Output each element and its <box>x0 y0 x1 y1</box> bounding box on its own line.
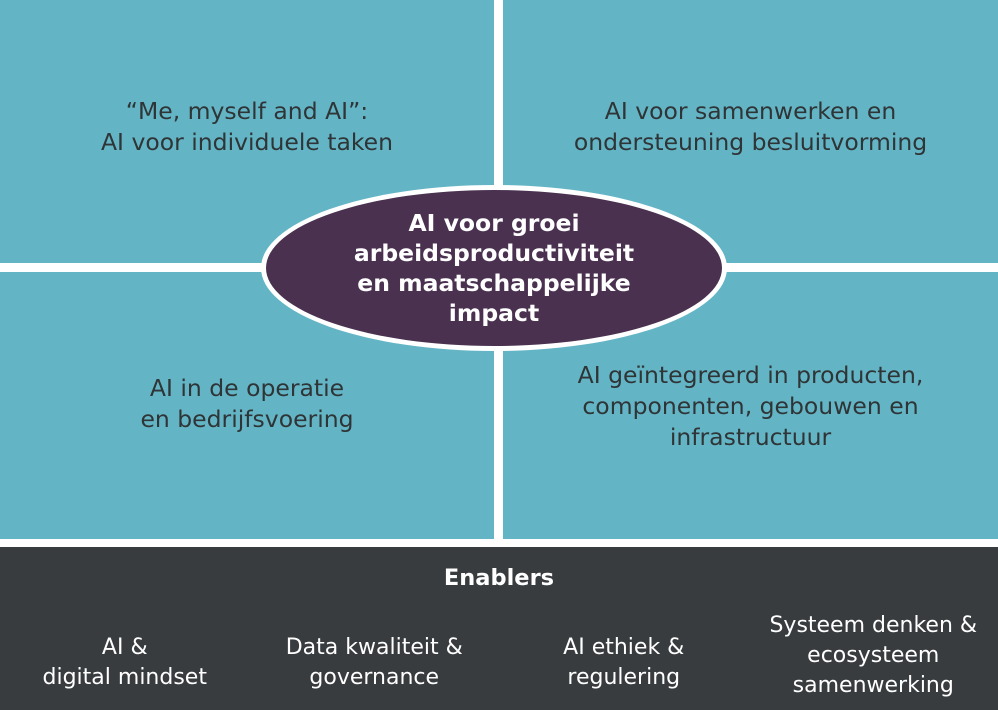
enablers-band: Enablers AI & digital mindset Data kwali… <box>0 547 998 710</box>
enabler-item-data-kwaliteit[interactable]: Data kwaliteit & governance <box>250 603 500 693</box>
quadrant-top-left-label: “Me, myself and AI”: AI voor individuele… <box>83 96 411 158</box>
enabler-label: Systeem denken & ecosysteem samenwerking <box>769 613 977 698</box>
center-ellipse[interactable]: AI voor groei arbeidsproductiviteit en m… <box>261 185 727 351</box>
center-ellipse-container: AI voor groei arbeidsproductiviteit en m… <box>261 185 727 351</box>
enabler-item-ai-digital-mindset[interactable]: AI & digital mindset <box>0 603 250 693</box>
center-ellipse-label: AI voor groei arbeidsproductiviteit en m… <box>308 208 680 328</box>
diagram-canvas: “Me, myself and AI”: AI voor individuele… <box>0 0 998 710</box>
enabler-label: Data kwaliteit & governance <box>286 635 463 690</box>
quadrant-bottom-left-label: AI in de operatie en bedrijfsvoering <box>122 373 371 435</box>
enabler-label: AI ethiek & regulering <box>563 635 684 690</box>
enabler-item-systeem-denken[interactable]: Systeem denken & ecosysteem samenwerking <box>749 581 998 701</box>
enablers-list: AI & digital mindset Data kwaliteit & go… <box>0 603 998 703</box>
enabler-label: AI & digital mindset <box>43 635 207 690</box>
enabler-item-ai-ethiek[interactable]: AI ethiek & regulering <box>499 603 749 693</box>
quadrant-bottom-right-label: AI geïntegreerd in producten, componente… <box>560 360 942 453</box>
quadrant-top-right-label: AI voor samenwerken en ondersteuning bes… <box>556 96 945 158</box>
